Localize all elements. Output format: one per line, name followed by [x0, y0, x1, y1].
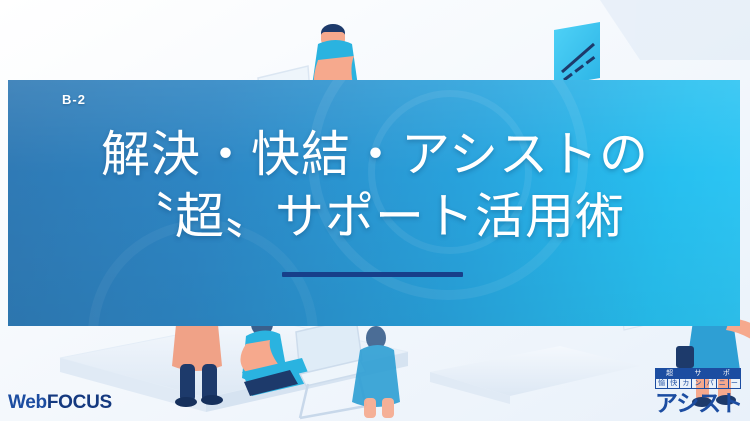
- webfocus-logo-part2: FOCUS: [47, 392, 112, 413]
- tagline-cell: ニ: [717, 379, 729, 388]
- webfocus-logo: WebFOCUS: [8, 392, 112, 414]
- tagline-cell: パ: [705, 379, 717, 388]
- title-underline: [282, 272, 463, 277]
- tagline-cell: 愉: [656, 379, 668, 388]
- title-line-1: 解決・快結・アシストの: [0, 124, 750, 186]
- tagline-cell: カ: [680, 379, 692, 388]
- tagline-cell: 快: [668, 379, 680, 388]
- session-code: B-2: [62, 92, 86, 107]
- tagline-cell: サ: [684, 369, 712, 378]
- page-title: 解決・快結・アシストの 〝超〟サポート活用術: [0, 124, 750, 248]
- tagline-cell: ー: [729, 379, 740, 388]
- ashisuto-tagline-row-1: 超 サ ポ: [656, 369, 740, 378]
- tagline-cell: ン: [692, 379, 704, 388]
- ashisuto-logo: 超 サ ポ 愉 快 カ ン パ ニ ー アシスト: [655, 368, 743, 417]
- slide-canvas: B-2 解決・快結・アシストの 〝超〟サポート活用術 WebFOCUS 超 サ …: [0, 0, 750, 421]
- webfocus-logo-part1: Web: [8, 392, 47, 413]
- tagline-cell: ポ: [713, 369, 740, 378]
- presentation-board: [554, 22, 600, 86]
- title-line-2: 〝超〟サポート活用術: [0, 186, 750, 248]
- ashisuto-tagline: 超 サ ポ 愉 快 カ ン パ ニ ー: [655, 368, 741, 389]
- ashisuto-tagline-row-2: 愉 快 カ ン パ ニ ー: [656, 378, 740, 388]
- tagline-cell: 超: [656, 369, 684, 378]
- ashisuto-brand: アシスト: [655, 392, 743, 417]
